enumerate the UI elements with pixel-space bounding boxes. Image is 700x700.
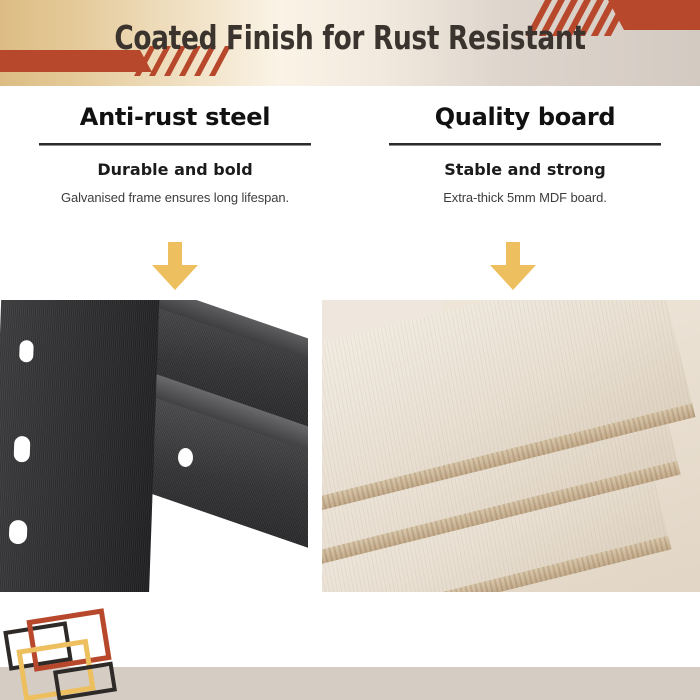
feature-heading-board: Quality board [350,100,700,134]
post-slot [19,340,34,362]
arrow-down-icon-steel [152,242,198,290]
feature-subtitle-board: Stable and strong [350,160,700,179]
beam-hole [178,448,193,467]
feature-description-board: Extra-thick 5mm MDF board. [350,190,700,205]
page-title: Coated Finish for Rust Resistant [70,18,630,57]
photo-mdf-boards [322,300,700,592]
arrow-head [490,265,536,290]
steel-upright-post [0,300,160,592]
product-photos [0,300,700,592]
post-slot [9,520,28,545]
heading-divider-board [389,143,661,146]
feature-heading-steel: Anti-rust steel [0,100,350,134]
header-banner: Coated Finish for Rust Resistant [0,0,700,86]
heading-divider-steel [39,143,311,146]
arrow-down-icon-board [490,242,536,290]
feature-columns: Anti-rust steel Durable and bold Galvani… [0,100,700,230]
header-block-top-right [624,0,700,30]
feature-description-steel: Galvanised frame ensures long lifespan. [0,190,350,205]
feature-column-steel: Anti-rust steel Durable and bold Galvani… [0,100,350,230]
post-slot [14,436,31,463]
footer-decoration [0,600,220,700]
arrow-head [152,265,198,290]
feature-subtitle-steel: Durable and bold [0,160,350,179]
infographic-page: Coated Finish for Rust Resistant Anti-ru… [0,0,700,700]
feature-column-board: Quality board Stable and strong Extra-th… [350,100,700,230]
photo-steel-frame [0,300,308,592]
